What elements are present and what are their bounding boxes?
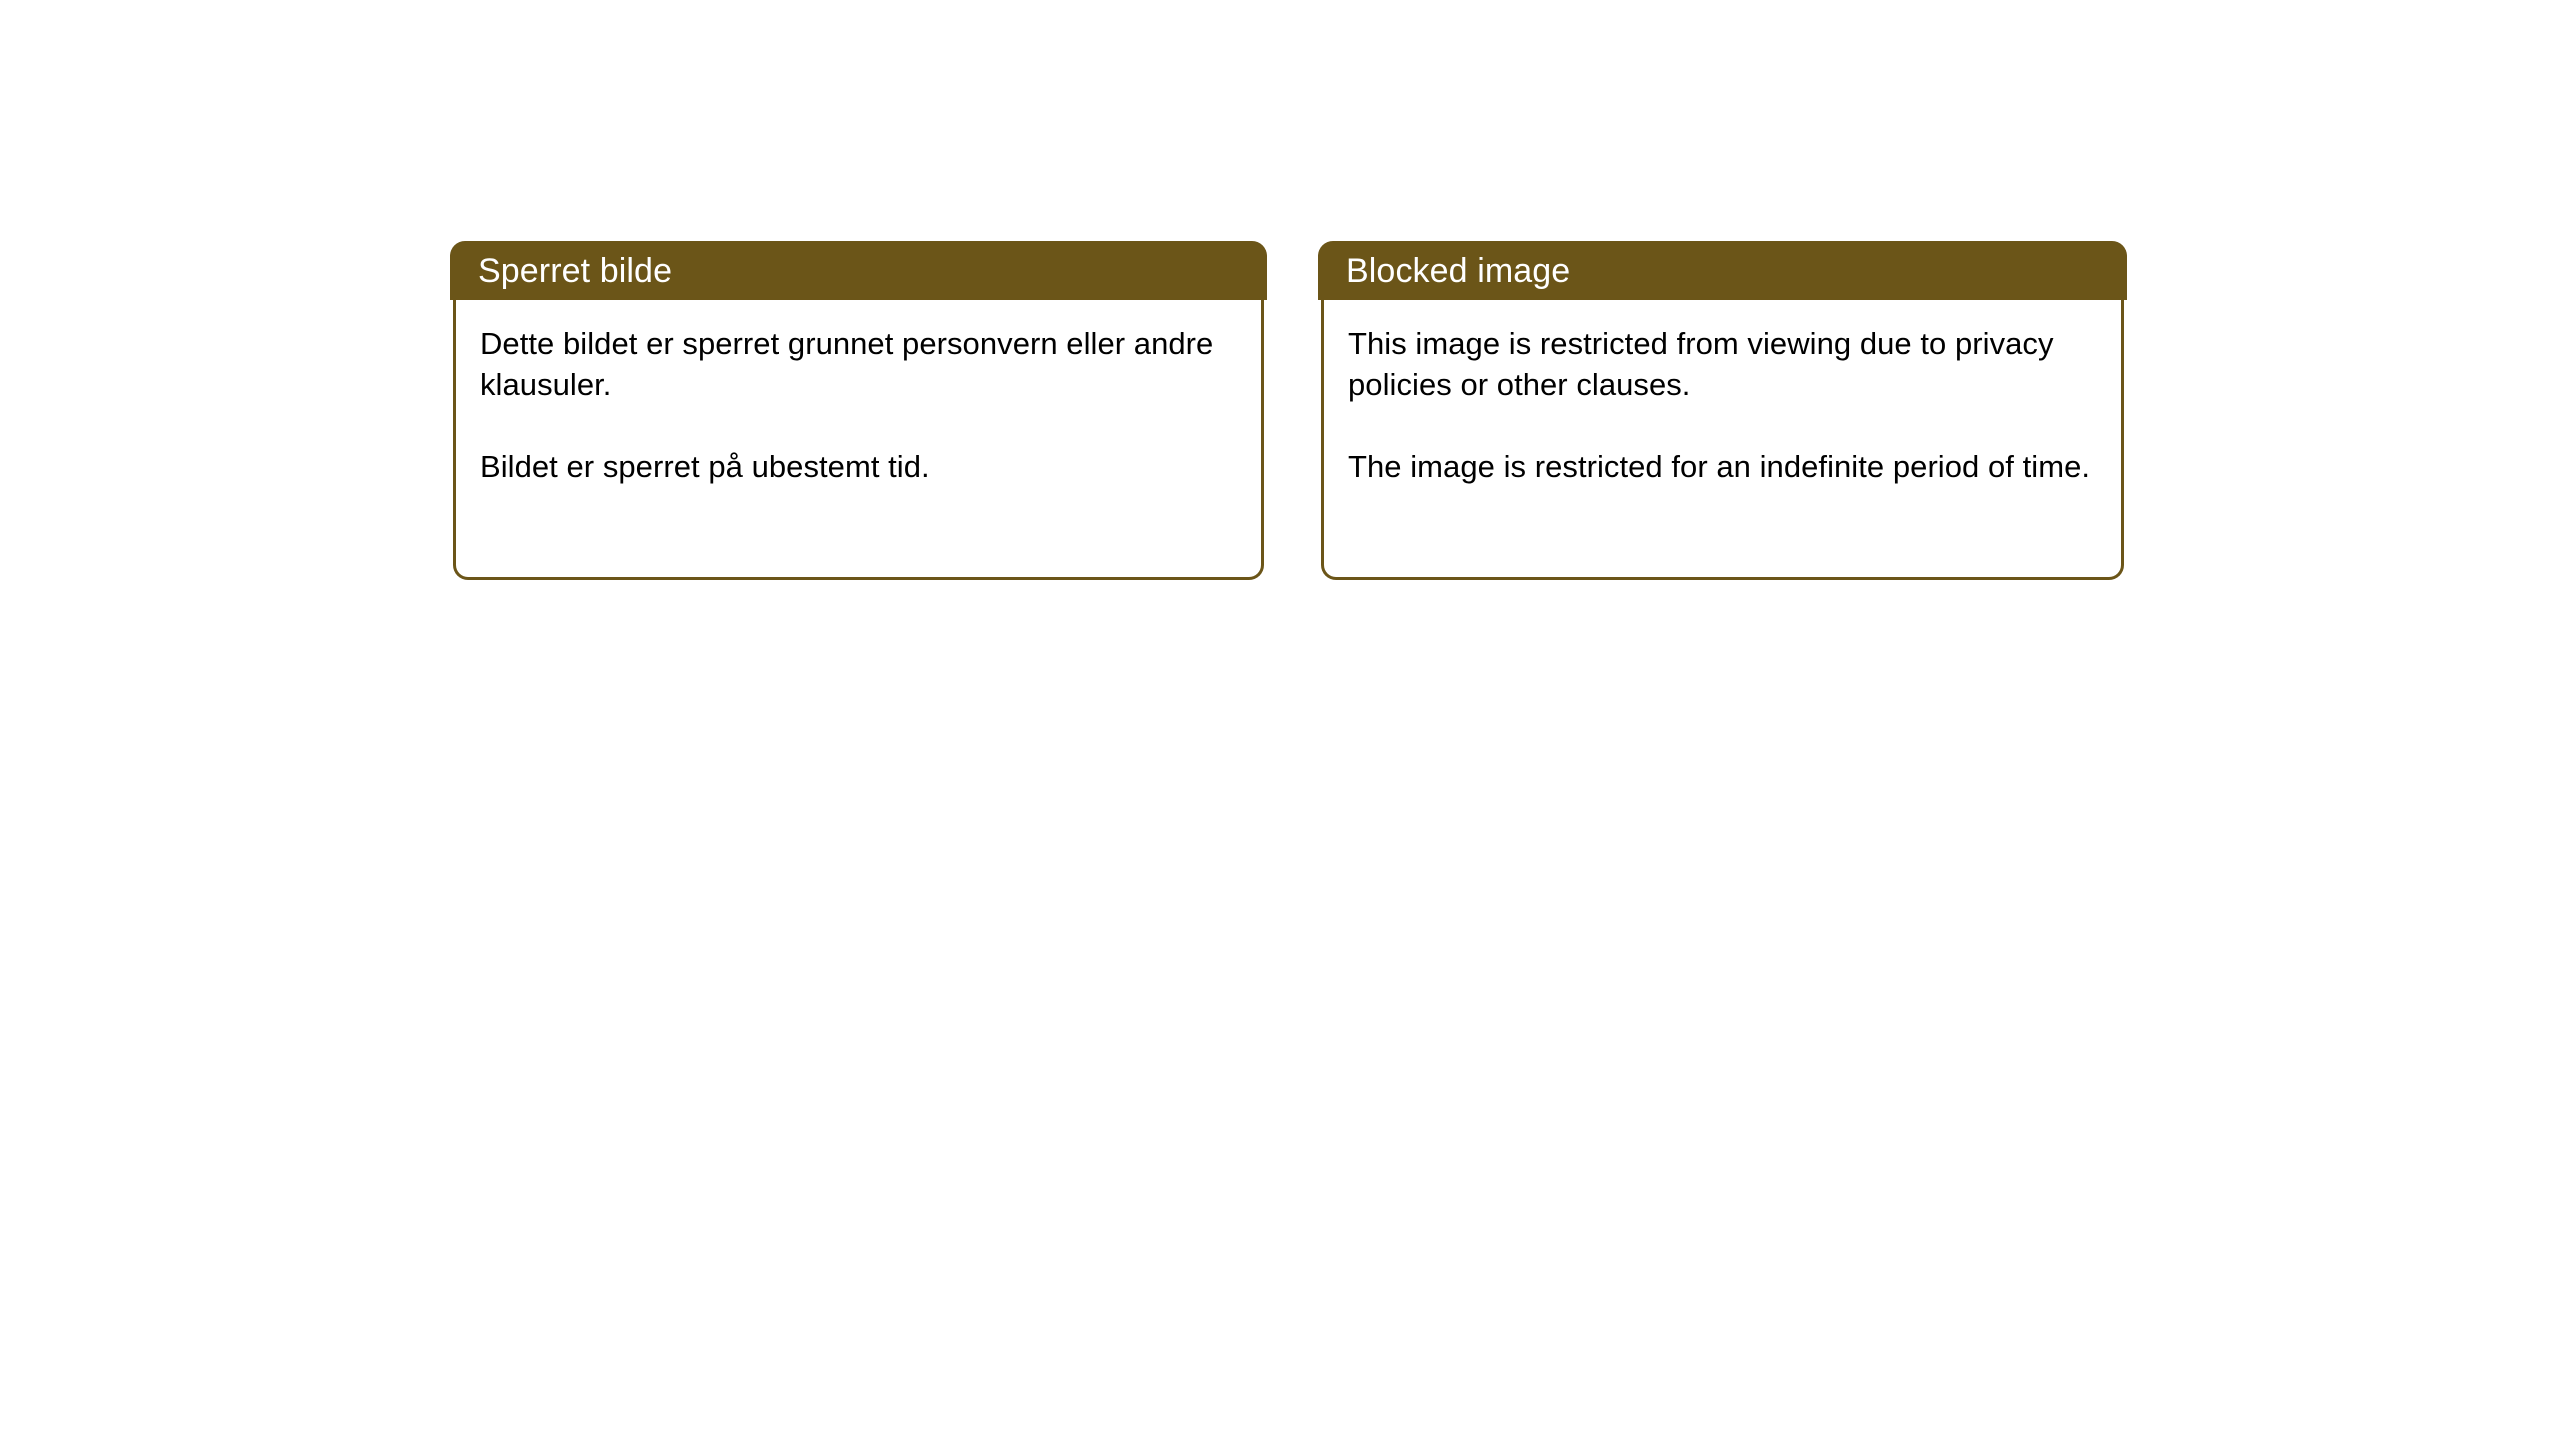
card-body-en: This image is restricted from viewing du…: [1321, 300, 2124, 580]
card-header-no: Sperret bilde: [450, 241, 1267, 300]
card-paragraph-en-1: This image is restricted from viewing du…: [1348, 323, 2097, 405]
paragraph-spacer-en: [1348, 405, 2097, 446]
card-body-no: Dette bildet er sperret grunnet personve…: [453, 300, 1264, 580]
card-paragraph-no-1: Dette bildet er sperret grunnet personve…: [480, 323, 1237, 405]
paragraph-spacer-no: [480, 405, 1237, 446]
card-header-en: Blocked image: [1318, 241, 2127, 300]
card-title-no: Sperret bilde: [450, 251, 672, 291]
page-canvas: Sperret bilde Dette bildet er sperret gr…: [0, 0, 2560, 1440]
card-paragraph-no-2: Bildet er sperret på ubestemt tid.: [480, 446, 1237, 487]
blocked-image-notice-card-no: Sperret bilde Dette bildet er sperret gr…: [450, 241, 1267, 580]
card-title-en: Blocked image: [1318, 251, 1570, 291]
blocked-image-notice-card-en: Blocked image This image is restricted f…: [1318, 241, 2127, 580]
card-paragraph-en-2: The image is restricted for an indefinit…: [1348, 446, 2097, 487]
